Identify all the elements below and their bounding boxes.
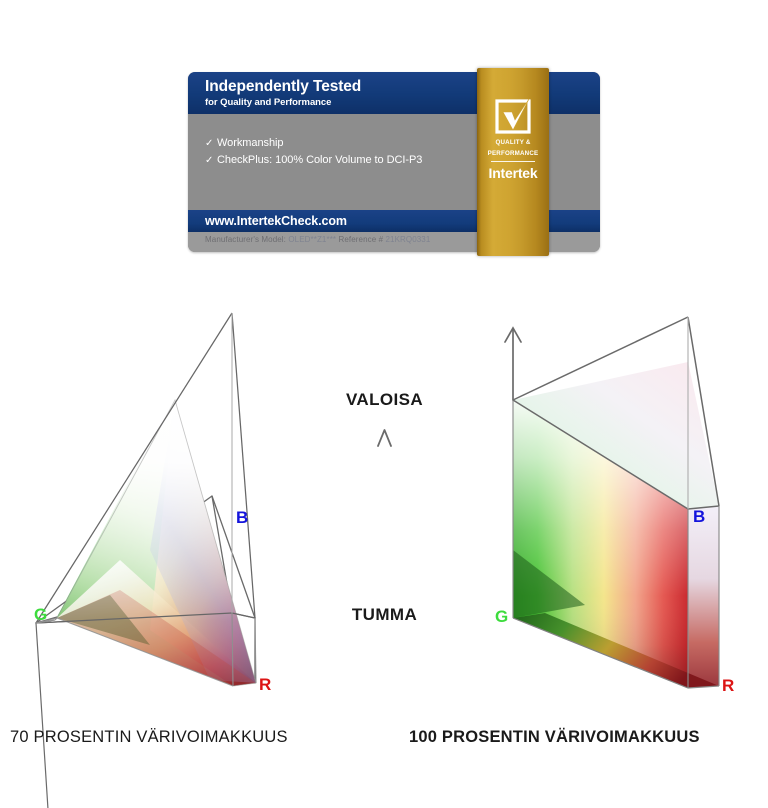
- intertek-logo: QUALITY & PERFORMANCE Intertek: [477, 96, 549, 181]
- reference-prism-wireframe-70: [0, 300, 300, 720]
- vertex-label-g: G: [495, 608, 508, 625]
- certificate-title: Independently Tested: [205, 78, 361, 96]
- intertek-certificate: Independently Tested for Quality and Per…: [188, 72, 600, 252]
- model-value: OLED**Z1***: [288, 235, 336, 244]
- checkmark-icon: ✓: [205, 138, 217, 149]
- caption-100-percent: 100 PROSENTIN VÄRIVOIMAKKUUS: [409, 728, 700, 747]
- vertex-label-r: R: [722, 677, 734, 694]
- color-volume-diagram-70: G B R: [0, 300, 300, 700]
- axis-label-dark: TUMMA: [307, 605, 462, 625]
- quality-line-2: PERFORMANCE: [477, 150, 549, 158]
- caption-70-percent: 70 PROSENTIN VÄRIVOIMAKKUUS: [10, 728, 288, 747]
- check-item-label: CheckPlus: 100% Color Volume to DCI-P3: [217, 154, 422, 166]
- vertex-label-b: B: [236, 509, 248, 526]
- list-item: ✓ CheckPlus: 100% Color Volume to DCI-P3: [205, 154, 422, 166]
- color-volume-diagram-100: G B R: [455, 300, 755, 700]
- reference-value: 21KRQ0331: [385, 235, 430, 244]
- certificate-footer-text: Manufacturer's Model: OLED**Z1*** Refere…: [205, 235, 430, 244]
- axis-label-bright: VALOISA: [307, 390, 462, 410]
- intertek-brand-label: Intertek: [477, 165, 549, 181]
- vertex-label-b: B: [693, 508, 705, 525]
- vertex-label-r: R: [259, 676, 271, 693]
- list-item: ✓ Workmanship: [205, 137, 422, 149]
- certificate-subtitle: for Quality and Performance: [205, 97, 331, 108]
- vertex-label-g: G: [34, 606, 47, 623]
- gamut-right-face-100: [688, 506, 719, 688]
- ribbon-divider: [491, 161, 535, 162]
- checkmark-icon: ✓: [205, 155, 217, 166]
- quality-line-1: QUALITY &: [477, 139, 549, 147]
- quality-tick-icon: [493, 96, 533, 136]
- certificate-check-list: ✓ Workmanship ✓ CheckPlus: 100% Color Vo…: [205, 137, 422, 171]
- brightness-arrow-icon: [505, 328, 521, 400]
- check-item-label: Workmanship: [217, 137, 284, 149]
- reference-label: Reference #: [338, 235, 383, 244]
- brightness-axis: VALOISA TUMMA: [307, 390, 462, 630]
- color-volume-solid-100: [455, 300, 755, 720]
- axis-arrow-icon: [307, 422, 462, 602]
- intertek-gold-ribbon: QUALITY & PERFORMANCE Intertek: [477, 68, 549, 256]
- model-label: Manufacturer's Model:: [205, 235, 286, 244]
- certificate-url-link[interactable]: www.IntertekCheck.com: [205, 214, 347, 228]
